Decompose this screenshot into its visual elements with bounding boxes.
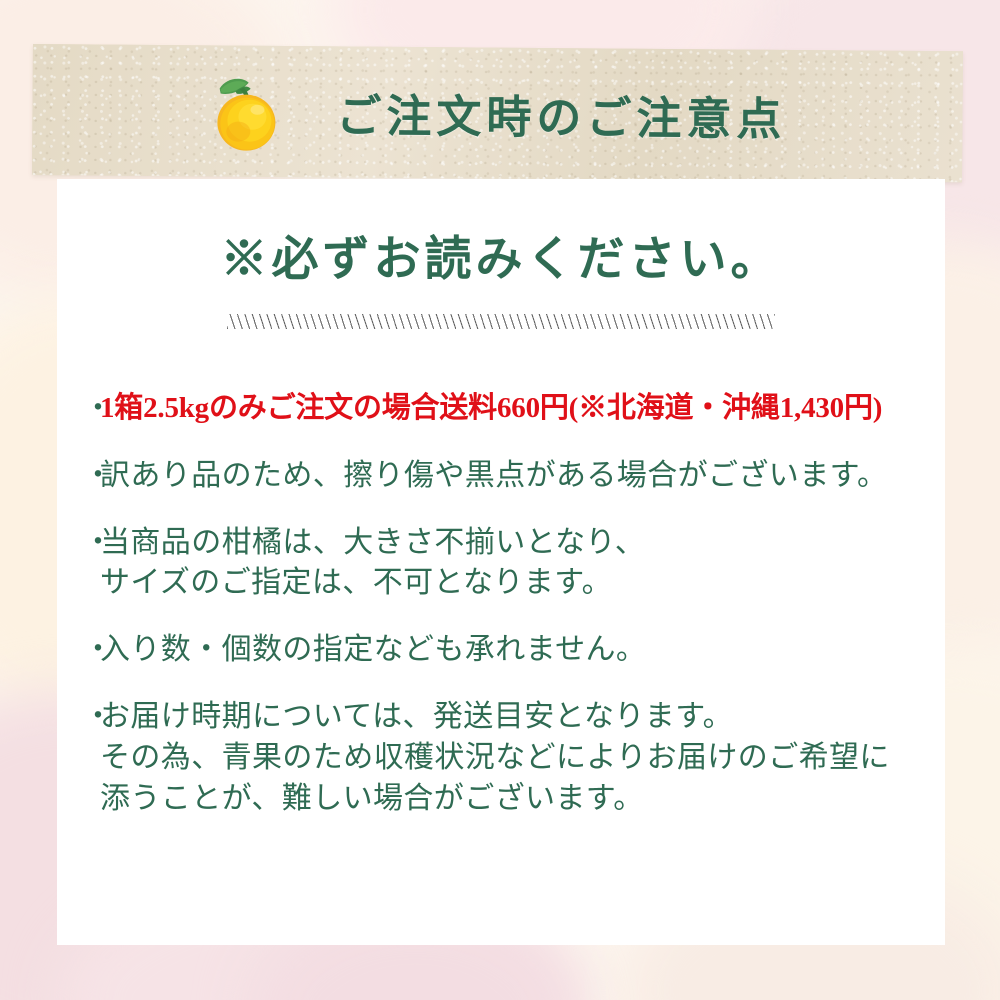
page-title: ご注文時のご注意点 — [336, 79, 787, 148]
list-item: ・ 当商品の柑橘は、大きさ不揃いとなり、 サイズのご指定は、不可となります。 — [57, 523, 945, 605]
bullet-icon: ・ — [83, 523, 100, 564]
bullet-icon: ・ — [83, 630, 100, 671]
notice-text: 当商品の柑橘は、大きさ不揃いとなり、 サイズのご指定は、不可となります。 — [100, 523, 645, 605]
list-item: ・ 訳あり品のため、擦り傷や黒点がある場合がございます。 — [57, 456, 945, 497]
notice-text: 入り数・個数の指定なども承れません。 — [100, 630, 646, 671]
list-item: ・ お届け時期については、発送目安となります。 その為、青果のため収穫状況などに… — [57, 697, 945, 819]
notice-text: 訳あり品のため、擦り傷や黒点がある場合がございます。 — [100, 456, 887, 497]
notice-list: ・ 1箱2.5kgのみご注文の場合送料660円(※北海道・沖縄1,430円) ・… — [57, 389, 945, 819]
mandarin-orange-icon — [208, 69, 283, 156]
notice-card: ※必ずお読みください。 ・ 1箱2.5kgのみご注文の場合送料660円(※北海道… — [57, 179, 945, 945]
card-heading: ※必ずお読みください。 — [57, 220, 945, 289]
notice-text: お届け時期については、発送目安となります。 その為、青果のため収穫状況などにより… — [100, 697, 890, 819]
bullet-icon: ・ — [83, 389, 100, 430]
list-item: ・ 入り数・個数の指定なども承れません。 — [57, 630, 945, 671]
list-item: ・ 1箱2.5kgのみご注文の場合送料660円(※北海道・沖縄1,430円) — [57, 389, 945, 430]
bullet-icon: ・ — [83, 697, 100, 738]
notice-banner-page: ご注文時のご注意点 ※必ずお読みください。 ・ 1箱2.5kgのみご注文の場合送… — [0, 0, 1000, 1000]
notice-text: 1箱2.5kgのみご注文の場合送料660円(※北海道・沖縄1,430円) — [100, 389, 882, 428]
header-banner: ご注文時のご注意点 — [32, 44, 963, 182]
hatched-divider-icon — [227, 314, 775, 329]
header-banner-content: ご注文時のご注意点 — [32, 44, 963, 182]
bullet-icon: ・ — [83, 456, 100, 497]
